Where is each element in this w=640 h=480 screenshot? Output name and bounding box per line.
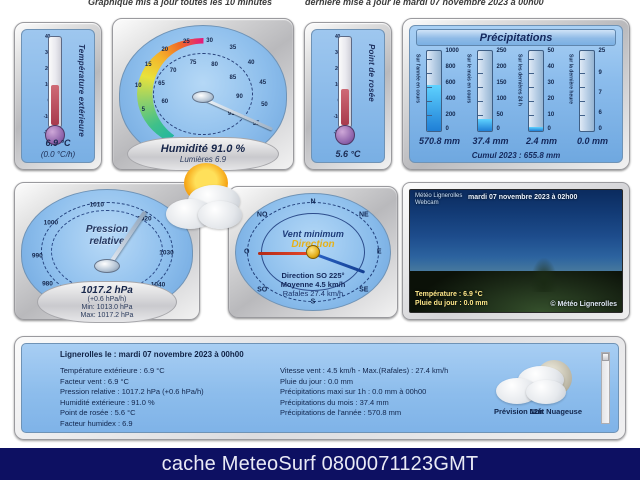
precip-label-month: Sur le mois en cours xyxy=(466,54,472,103)
temperature-value: 6.9 °C xyxy=(22,138,94,149)
dewpoint-mercury-column xyxy=(341,89,349,125)
summary-row-humidex: Facteur humidex : 6.9 xyxy=(60,419,204,430)
temperature-trend: (0.0 °C/h) xyxy=(22,149,94,160)
dewpoint-thermometer-face: 40 30 20 10 0 -10 -20 Point de rosée 5.6… xyxy=(311,29,385,163)
precipitation-panel[interactable]: Précipitations Sur l'année en cours 1000… xyxy=(402,18,630,170)
precip-column-year: Sur l'année en cours 1000 800 600 400 20… xyxy=(415,48,465,160)
pressure-needle-hub xyxy=(94,259,120,273)
webcam-copyright: © Météo Lignerolles xyxy=(550,301,617,308)
wind-readout: Direction SO 225° Moyenne 4.5 km/h Rafal… xyxy=(236,271,390,298)
humidity-value: 91.0 xyxy=(211,143,232,155)
precip-label-24h: Sur les dernières 24 h xyxy=(517,54,523,106)
webcam-temperature: Température : 6.9 °C xyxy=(415,290,488,299)
humidity-unit: % xyxy=(235,143,245,155)
pressure-label-line2: relative xyxy=(22,236,192,248)
webcam-readings: Température : 6.9 °C Pluie du jour : 0.0… xyxy=(415,290,488,308)
precip-column-24h: Sur les dernières 24 h 50 40 30 20 10 0 … xyxy=(517,48,567,160)
pressure-trend: (+0.6 hPa/h) xyxy=(38,296,176,304)
summary-row-windchill: Facteur vent : 6.9 °C xyxy=(60,377,204,388)
wind-compass-face: N NO NE O E SO SE S Vent minimum Directi… xyxy=(235,193,391,311)
precipitation-face: Précipitations Sur l'année en cours 1000… xyxy=(409,25,623,163)
webcam-station-line1: Météo Lignerolles xyxy=(415,193,462,200)
dewpoint-value: 5.6 °C xyxy=(312,149,384,160)
precip-value-24h: 2.4 mm xyxy=(513,136,571,146)
summary-row-humidity: Humidité extérieure : 91.0 % xyxy=(60,398,204,409)
temperature-thermometer-panel[interactable]: 40 30 20 10 0 -10 -20 Température extéri… xyxy=(14,22,102,170)
dewpoint-thermometer-panel[interactable]: 40 30 20 10 0 -10 -20 Point de rosée 5.6… xyxy=(304,22,392,170)
humidity-gauge-panel[interactable]: 5 10 15 20 25 30 35 40 45 50 55 60 65 70… xyxy=(112,18,294,170)
summary-row-rain-today: Pluie du jour : 0.0 mm xyxy=(280,377,448,388)
pressure-value: 1017.2 hPa xyxy=(38,285,176,296)
weather-dashboard: Graphique mis à jour toutes les 10 minut… xyxy=(0,0,640,480)
pressure-min: Min: 1013.0 hPa xyxy=(38,304,176,312)
top-captions: Graphique mis à jour toutes les 10 minut… xyxy=(0,0,640,12)
wind-title-1: Vent xyxy=(282,229,301,239)
temperature-tick-labels: 40 30 20 10 0 -10 -20 xyxy=(26,34,50,128)
temperature-title: Température extérieure xyxy=(77,44,86,137)
precip-label-year: Sur l'année en cours xyxy=(415,54,421,103)
humidity-label: Humidité xyxy=(161,143,208,155)
temperature-readout: 6.9 °C (0.0 °C/h) xyxy=(22,138,94,160)
humidity-needle-hub xyxy=(192,91,214,103)
precip-tube-month xyxy=(477,50,493,132)
summary-header: Lignerolles le : mardi 07 novembre 2023 … xyxy=(60,350,244,359)
summary-right-column: Vitesse vent : 4.5 km/h - Max.(Rafales) … xyxy=(280,366,448,419)
webcam-station-line2: Webcam xyxy=(415,200,462,207)
summary-panel[interactable]: Lignerolles le : mardi 07 novembre 2023 … xyxy=(14,336,626,440)
summary-left-column: Température extérieure : 6.9 °C Facteur … xyxy=(60,366,204,429)
dewpoint-title: Point de rosée xyxy=(367,44,376,102)
dewpoint-tick-labels: 40 30 20 10 0 -10 -20 xyxy=(316,34,340,128)
precip-value-year: 570.8 mm xyxy=(411,136,469,146)
forecast-cloud-mid xyxy=(526,380,566,404)
precip-column-month: Sur le mois en cours 250 200 150 100 50 … xyxy=(466,48,516,160)
summary-row-rain-max-1h: Précipitations maxi sur 1h : 0.0 mm à 00… xyxy=(280,387,448,398)
precip-ticks-hour: 25 9 7 6 0 xyxy=(597,48,619,134)
top-caption-right: dernière mise à jour le mardi 07 novembr… xyxy=(305,0,544,7)
summary-row-temperature: Température extérieure : 6.9 °C xyxy=(60,366,204,377)
wind-direction: Direction SO 225° xyxy=(236,271,390,280)
precip-tube-year xyxy=(426,50,442,132)
temperature-mercury-column xyxy=(51,85,59,125)
forecast-icon: Prévision 12h Nuit Nuageuse xyxy=(492,358,584,414)
webcam-rain: Pluie du jour : 0.0 mm xyxy=(415,299,488,308)
webcam-tree xyxy=(531,258,557,292)
summary-scrollbar[interactable] xyxy=(601,352,610,424)
temperature-thermometer-face: 40 30 20 10 0 -10 -20 Température extéri… xyxy=(21,29,95,163)
top-caption-left: Graphique mis à jour toutes les 10 minut… xyxy=(88,0,272,7)
precip-tube-hour xyxy=(579,50,595,132)
status-bar: cache MeteoSurf 0800071123GMT xyxy=(0,448,640,480)
summary-row-rain-month: Précipitations du mois : 37.4 mm xyxy=(280,398,448,409)
precip-ticks-24h: 50 40 30 20 10 0 xyxy=(546,48,568,134)
cloud-icon-mid xyxy=(198,201,242,229)
precip-value-hour: 0.0 mm xyxy=(564,136,622,146)
dewpoint-scale xyxy=(338,36,352,128)
pressure-readout-plate: 1017.2 hPa (+0.6 hPa/h) Min: 1013.0 hPa … xyxy=(37,281,177,323)
webcam-panel[interactable]: Météo Lignerolles Webcam mardi 07 novemb… xyxy=(402,182,630,320)
pressure-max: Max: 1017.2 hPa xyxy=(38,312,176,320)
wind-gust: Rafales 27.4 km/h xyxy=(236,289,390,298)
dewpoint-readout: 5.6 °C xyxy=(312,149,384,160)
precip-label-hour: Sur la dernière heure xyxy=(568,54,574,104)
current-conditions-icon xyxy=(158,163,254,235)
precip-tube-24h xyxy=(528,50,544,132)
summary-inner: Lignerolles le : mardi 07 novembre 2023 … xyxy=(21,343,619,433)
summary-row-windspeed: Vitesse vent : 4.5 km/h - Max.(Rafales) … xyxy=(280,366,448,377)
webcam-timestamp: mardi 07 novembre 2023 à 02h00 xyxy=(468,194,577,201)
forecast-text: Nuit Nuageuse xyxy=(529,407,582,416)
wind-needle-hub xyxy=(306,245,320,259)
dewpoint-bulb xyxy=(335,125,355,145)
webcam-station-label: Météo Lignerolles Webcam xyxy=(415,193,462,207)
precip-ticks-year: 1000 800 600 400 200 0 xyxy=(444,48,466,134)
temperature-scale xyxy=(48,36,62,128)
wind-title-2: minimum xyxy=(304,229,344,239)
summary-row-rain-year: Précipitations de l'année : 570.8 mm xyxy=(280,408,448,419)
summary-row-pressure: Pression relative : 1017.2 hPa (+0.6 hPa… xyxy=(60,387,204,398)
summary-row-dewpoint: Point de rosée : 5.6 °C xyxy=(60,408,204,419)
precip-ticks-month: 250 200 150 100 50 0 xyxy=(495,48,517,134)
precip-column-hour: Sur la dernière heure 25 9 7 6 0 0.0 mm xyxy=(568,48,618,160)
wind-mean: Moyenne 4.5 km/h xyxy=(236,280,390,289)
webcam-image: Météo Lignerolles Webcam mardi 07 novemb… xyxy=(409,189,623,313)
status-bar-text: cache MeteoSurf 0800071123GMT xyxy=(162,453,479,476)
wind-needle-gust xyxy=(258,252,313,255)
precipitation-title: Précipitations xyxy=(416,29,616,46)
humidity-readout: Humidité 91.0 % xyxy=(128,143,277,155)
precipitation-columns: Sur l'année en cours 1000 800 600 400 20… xyxy=(414,48,618,160)
precipitation-cumul: Cumul 2023 : 655.8 mm xyxy=(410,151,622,160)
precip-value-month: 37.4 mm xyxy=(462,136,520,146)
